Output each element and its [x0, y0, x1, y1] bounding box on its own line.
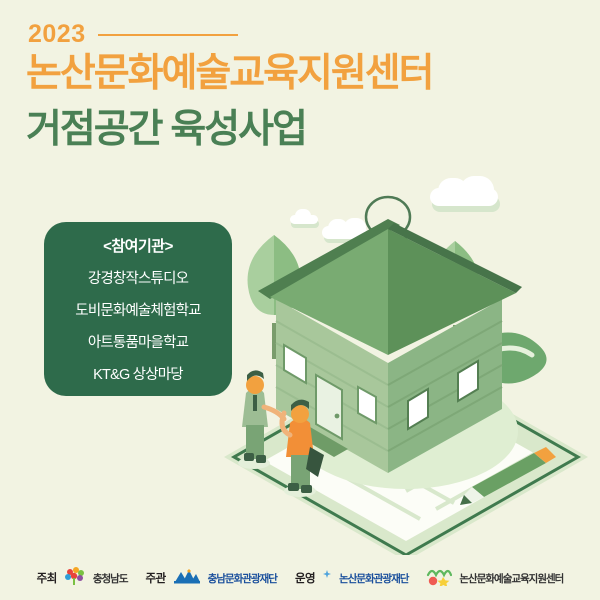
footer-label-host: 주최 [37, 570, 57, 586]
year-label: 2023 [28, 22, 86, 47]
year-row: 2023 [28, 22, 238, 47]
footer-org-center: 논산문화예술교육지원센터 [459, 571, 563, 586]
footer-org-organizer: 충남문화관광재단 [208, 571, 277, 586]
chungnam-foundation-logo [173, 568, 201, 589]
chungnam-flower-logo [64, 566, 86, 591]
page-title-line2: 거점공간 육성사업 [26, 110, 306, 149]
footer-org-host: 충청남도 [93, 571, 128, 586]
isometric-illustration [210, 195, 600, 555]
participating-institutions-box: <참여기관> 강경창작스튜디오 도비문화예술체험학교 아트통품마을학교 KT&G… [44, 222, 232, 396]
footer-group-organizer: 주관 충남문화관광재단 [136, 568, 285, 589]
info-box-heading: <참여기관> [103, 235, 173, 256]
nonsan-center-logo [426, 566, 452, 591]
footer-group-center: 논산문화예술교육지원센터 [417, 566, 572, 591]
year-divider-rule [98, 34, 238, 36]
poster-root: 2023 논산문화예술교육지원센터 거점공간 육성사업 <참여기관> 강경창작스… [0, 0, 600, 600]
list-item: 도비문화예술체험학교 [75, 299, 200, 320]
footer: 주최 충청남도 주관 [0, 556, 600, 600]
page-title-line1: 논산문화예술교육지원센터 [26, 54, 433, 93]
footer-group-host: 주최 충청남도 [28, 566, 137, 591]
footer-group-operator: 운영 논산문화관광재단 [286, 569, 417, 588]
nonsan-foundation-logo [322, 569, 332, 588]
list-item: KT&G 상상마당 [93, 363, 183, 384]
footer-label-operator: 운영 [295, 570, 315, 586]
footer-org-operator: 논산문화관광재단 [339, 571, 408, 586]
list-item: 강경창작스튜디오 [88, 267, 188, 288]
list-item: 아트통품마을학교 [88, 331, 188, 352]
footer-label-organizer: 주관 [145, 570, 165, 586]
illustration-scene [210, 195, 600, 555]
